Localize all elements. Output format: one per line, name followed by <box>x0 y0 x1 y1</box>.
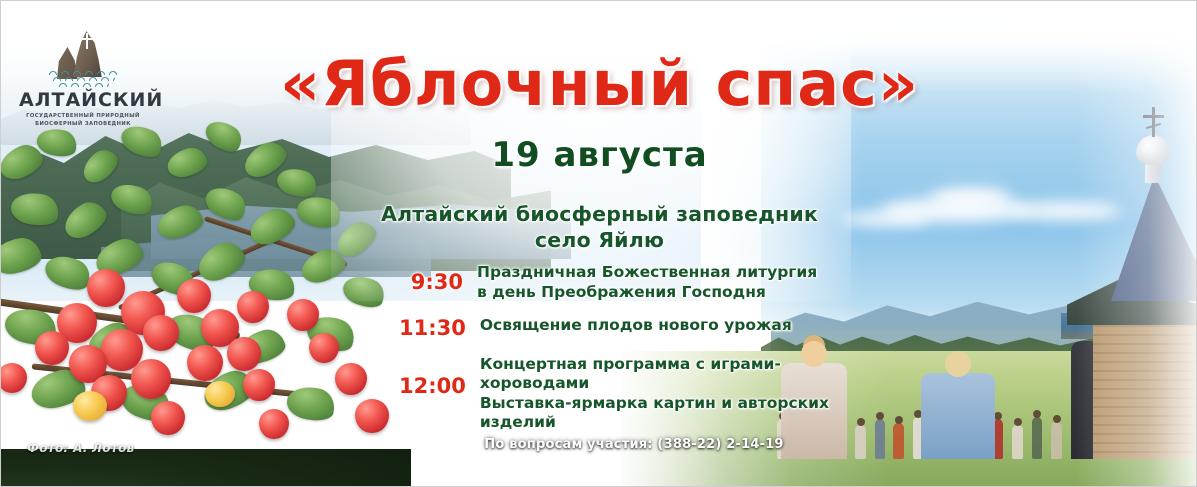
schedule-description-line: в день Преображения Господня <box>477 283 869 303</box>
schedule-description-line: изделий <box>480 413 869 433</box>
photo-credit: Фото: А. Лотов <box>27 441 135 455</box>
schedule-description-line: Освящение плодов нового урожая <box>480 316 869 336</box>
schedule-description-line: Концертная программа с играми- <box>480 355 869 375</box>
poster-root: АЛТАЙСКИЙ ГОСУДАРСТВЕННЫЙ ПРИРОДНЫЙ БИОС… <box>0 0 1197 487</box>
venue-block: Алтайский биосферный заповедник село Яйл… <box>1 201 1197 253</box>
schedule-description-line: Выставка-ярмарка картин и авторских <box>480 394 869 414</box>
schedule-description-line: хороводами <box>480 374 869 394</box>
schedule-row: 9:30 Праздничная Божественная литургия в… <box>399 263 869 302</box>
venue-line-2: село Яйлю <box>1 227 1197 253</box>
schedule-description: Праздничная Божественная литургия в день… <box>477 263 869 302</box>
event-date: 19 августа <box>1 138 1197 172</box>
schedule-description: Концертная программа с играми- хороводам… <box>480 355 869 433</box>
schedule-time: 12:00 <box>399 355 480 399</box>
schedule-description: Освящение плодов нового урожая <box>480 316 869 336</box>
schedule-time: 9:30 <box>399 263 477 295</box>
schedule-time: 11:30 <box>399 316 480 341</box>
schedule-row: 11:30 Освящение плодов нового урожая <box>399 316 869 341</box>
schedule-list: 9:30 Праздничная Божественная литургия в… <box>399 263 869 442</box>
schedule-description-line: Праздничная Божественная литургия <box>477 263 869 283</box>
schedule-row: 12:00 Концертная программа с играми- хор… <box>399 355 869 433</box>
contact-info: По вопросам участия: (388-22) 2-14-19 <box>399 437 869 452</box>
page-title: «Яблочный спас» <box>1 53 1197 115</box>
venue-line-1: Алтайский биосферный заповедник <box>1 201 1197 227</box>
poster-content: «Яблочный спас» 19 августа Алтайский био… <box>1 1 1197 487</box>
